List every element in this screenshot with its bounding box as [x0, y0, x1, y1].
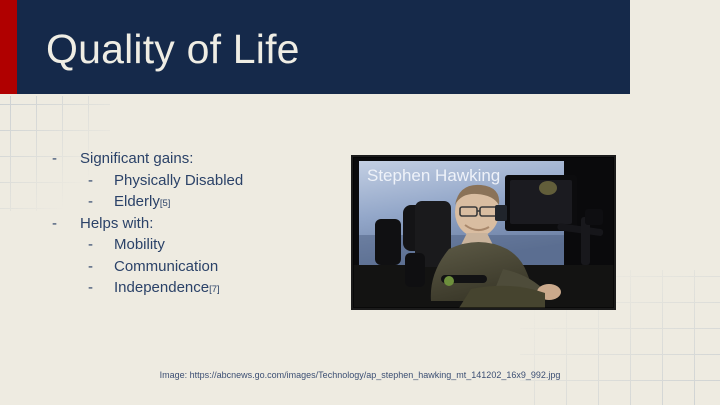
bullet-item: - Physically Disabled [52, 170, 342, 192]
bullet-text: Physically Disabled [114, 170, 243, 192]
bullet-item: - Mobility [52, 234, 342, 256]
page-title: Quality of Life [46, 26, 300, 73]
bullet-list: - Significant gains: - Physically Disabl… [52, 148, 342, 299]
svg-text:Stephen Hawking: Stephen Hawking [367, 166, 500, 185]
bullet-marker: - [88, 170, 114, 192]
bullet-marker: - [88, 277, 114, 299]
stephen-hawking-photo: Stephen Hawking [351, 155, 616, 310]
bullet-text: Mobility [114, 234, 165, 256]
bullet-item: - Independence [7] [52, 277, 342, 299]
bullet-marker: - [52, 213, 80, 235]
bullet-marker: - [88, 191, 114, 213]
bullet-marker: - [88, 234, 114, 256]
bullet-marker: - [52, 148, 80, 170]
bullet-item: - Elderly [5] [52, 191, 342, 213]
photo-illustration: Stephen Hawking [353, 157, 614, 308]
bullet-text: Independence [114, 277, 209, 299]
bullet-text: Helps with: [80, 213, 153, 235]
image-source-caption: Image: https://abcnews.go.com/images/Tec… [0, 370, 720, 380]
bullet-item: - Helps with: [52, 213, 342, 235]
bullet-text: Significant gains: [80, 148, 193, 170]
bullet-marker: - [88, 256, 114, 278]
bullet-text: Communication [114, 256, 218, 278]
bullet-item: - Significant gains: [52, 148, 342, 170]
presentation-slide: Quality of Life - Significant gains: - P… [0, 0, 720, 405]
bullet-text: Elderly [114, 191, 160, 213]
bullet-item: - Communication [52, 256, 342, 278]
accent-bar [0, 0, 17, 94]
